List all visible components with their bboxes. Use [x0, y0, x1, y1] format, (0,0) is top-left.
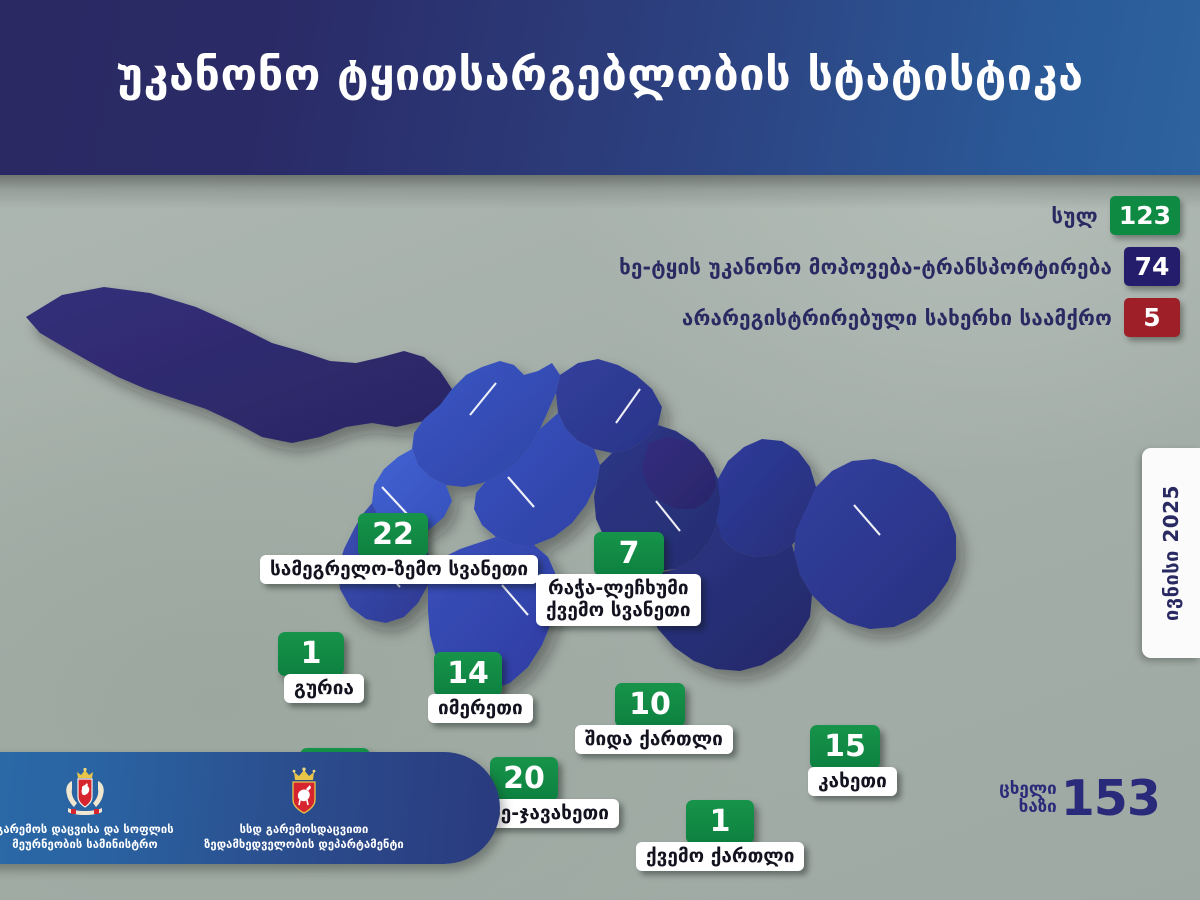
- hotline-number: 153: [1061, 776, 1160, 821]
- page-title: უკანონო ტყითსარგებლობის სტატისტიკა: [0, 48, 1200, 101]
- map-region-kakheti: [794, 459, 956, 629]
- callout-imereti[interactable]: 14 იმერეთი: [434, 652, 533, 723]
- callout-label-racha: რაჭა-ლეჩხუმიქვემო სვანეთი: [536, 574, 701, 626]
- callout-label-imereti: იმერეთი: [428, 694, 533, 723]
- header-banner: უკანონო ტყითსარგებლობის სტატისტიკა: [0, 0, 1200, 175]
- legend-row-illegal-logging: ხე-ტყის უკანონო მოპოვება-ტრანსპორტირება …: [619, 247, 1180, 286]
- callout-value-kvemo-kartli: 1: [686, 800, 754, 844]
- callout-value-racha: 7: [594, 532, 664, 576]
- callout-value-samtskhe: 20: [490, 757, 558, 801]
- hotline-label: ცხელიხაზი: [999, 781, 1057, 817]
- callout-shida-kartli[interactable]: 10 შიდა ქართლი: [615, 683, 733, 754]
- hotline: ცხელიხაზი 153: [999, 776, 1160, 821]
- legend-badge-unregistered-sawmill: 5: [1124, 298, 1180, 337]
- callout-label-kvemo-kartli: ქვემო ქართლი: [636, 842, 804, 871]
- callout-samegrelo[interactable]: 22 სამეგრელო-ზემო სვანეთი: [352, 513, 538, 584]
- callout-kakheti[interactable]: 15 კახეთი: [810, 725, 897, 796]
- callout-value-imereti: 14: [434, 652, 502, 696]
- organization-department: სსდ გარემოსდაცვითიზედამხედველობის დეპარტ…: [185, 766, 423, 852]
- organization-ministry-name: გარემოს დაცვისა და სოფლისმეურნეობის სამი…: [0, 822, 190, 852]
- organization-department-name: სსდ გარემოსდაცვითიზედამხედველობის დეპარტ…: [185, 822, 423, 852]
- callout-value-guria: 1: [278, 632, 344, 676]
- legend: სულ 123 ხე-ტყის უკანონო მოპოვება-ტრანსპო…: [619, 196, 1180, 337]
- callout-label-kakheti: კახეთი: [808, 767, 897, 796]
- organization-ministry: გარემოს დაცვისა და სოფლისმეურნეობის სამი…: [0, 766, 190, 852]
- callout-label-guria: გურია: [284, 674, 364, 703]
- callout-label-shida-kartli: შიდა ქართლი: [575, 725, 733, 754]
- legend-badge-total: 123: [1110, 196, 1180, 235]
- legend-badge-illegal-logging: 74: [1124, 247, 1180, 286]
- georgia-coat-of-arms-icon: [0, 766, 190, 818]
- legend-label-unregistered-sawmill: არარეგისტრირებული სახერხი საამქრო: [682, 306, 1112, 330]
- callout-samtskhe[interactable]: 20 სამცხე-ჯავახეთი: [490, 757, 619, 828]
- map-regions-group: [26, 287, 956, 691]
- callout-value-shida-kartli: 10: [615, 683, 685, 727]
- map-region-abkhazia: [26, 287, 452, 443]
- legend-label-illegal-logging: ხე-ტყის უკანონო მოპოვება-ტრანსპორტირება: [619, 255, 1112, 279]
- callout-racha[interactable]: 7 რაჭა-ლეჩხუმიქვემო სვანეთი: [588, 532, 701, 626]
- legend-row-total: სულ 123: [1051, 196, 1180, 235]
- shield-crown-icon: [185, 766, 423, 818]
- callout-kvemo-kartli[interactable]: 1 ქვემო ქართლი: [686, 800, 804, 871]
- date-tab: ივნისი 2025: [1142, 448, 1200, 658]
- callout-label-samegrelo: სამეგრელო-ზემო სვანეთი: [260, 555, 538, 584]
- legend-row-unregistered-sawmill: არარეგისტრირებული სახერხი საამქრო 5: [682, 298, 1180, 337]
- footer-bar: გარემოს დაცვისა და სოფლისმეურნეობის სამი…: [0, 752, 500, 864]
- date-label: ივნისი 2025: [1159, 485, 1183, 621]
- legend-label-total: სულ: [1051, 204, 1097, 228]
- callout-value-samegrelo: 22: [358, 513, 428, 557]
- callout-value-kakheti: 15: [810, 725, 880, 769]
- callout-guria[interactable]: 1 გურია: [278, 632, 364, 703]
